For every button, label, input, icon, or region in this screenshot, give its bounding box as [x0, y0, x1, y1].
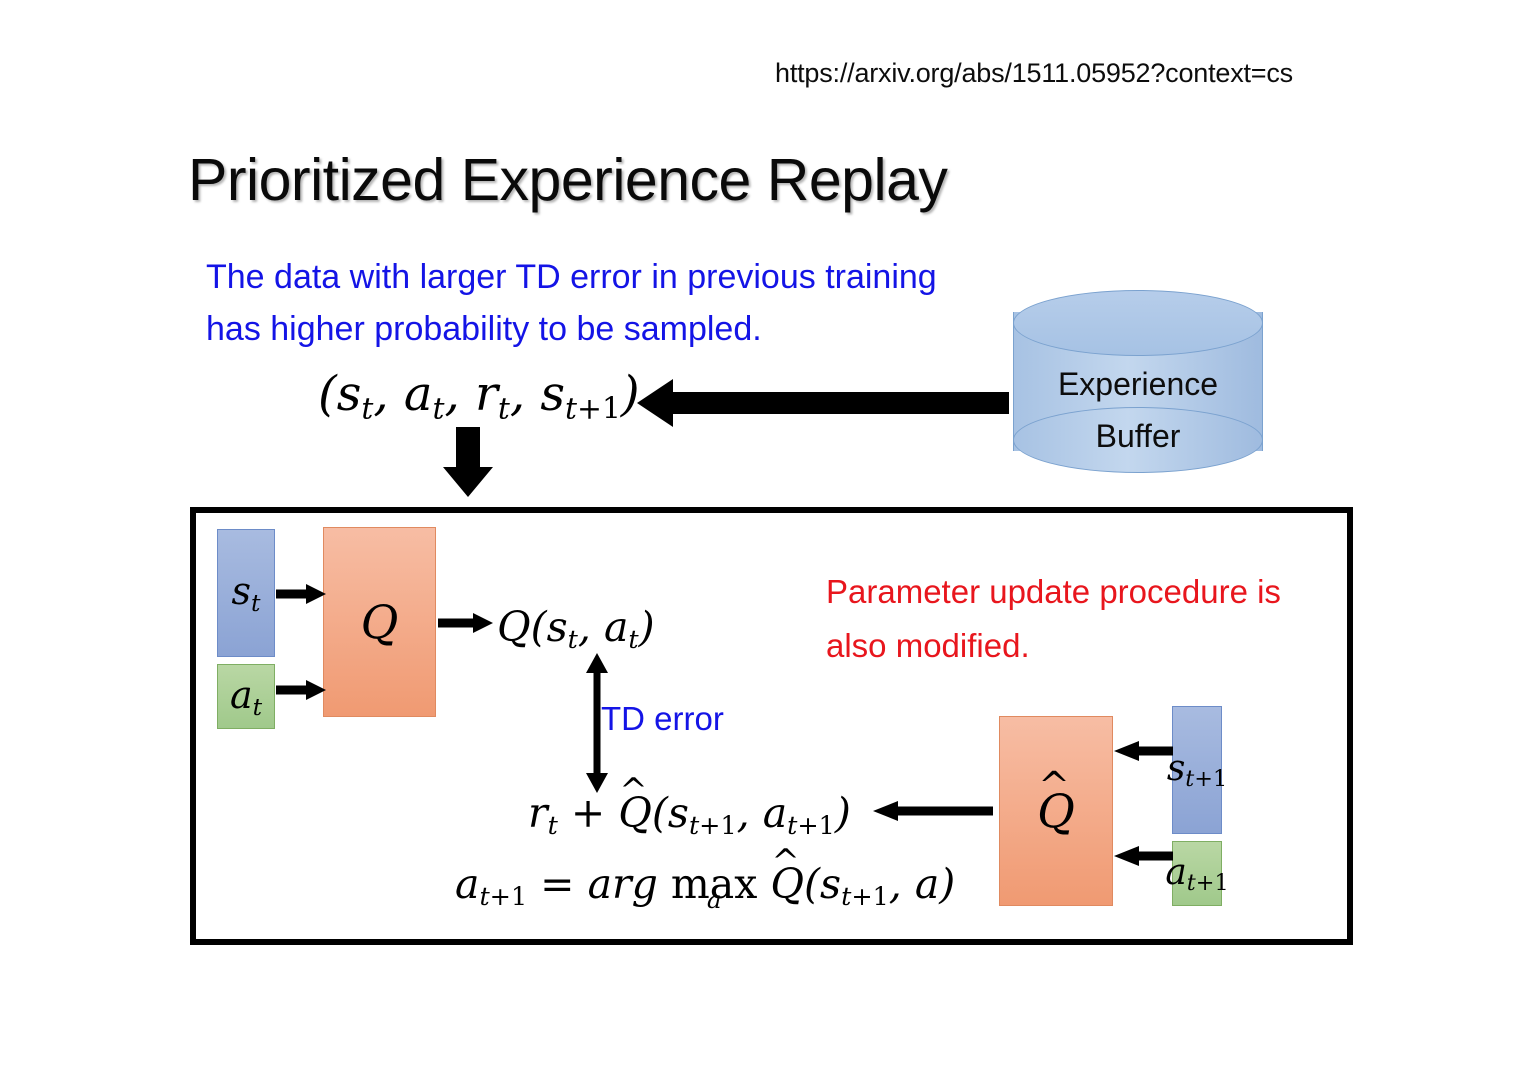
state-t1-box: st+1 — [1172, 706, 1222, 834]
buffer-label-line-2: Buffer — [1013, 410, 1263, 462]
red-annotation-text: Parameter update procedure is also modif… — [826, 565, 1326, 673]
target-q-network-label: ^Q — [1037, 784, 1075, 838]
arrow-q-to-q-value — [438, 612, 493, 634]
arrow-target-q-to-td-target — [873, 800, 993, 822]
action-t-label: at — [230, 673, 262, 721]
cylinder-top-ellipse — [1013, 290, 1263, 356]
experience-buffer-label: Experience Buffer — [1013, 358, 1263, 462]
action-t-box: at — [217, 664, 275, 729]
arrow-state-t-to-q — [276, 583, 326, 605]
feed-block-arrow-down — [443, 427, 493, 497]
slide-canvas: https://arxiv.org/abs/1511.05952?context… — [0, 0, 1524, 1080]
transition-tuple-formula: (st, at, rt, st+1) — [318, 366, 640, 426]
state-t1-label: st+1 — [1167, 748, 1227, 792]
q-network-label: Q — [361, 595, 399, 649]
sample-block-arrow-left — [637, 379, 1009, 427]
state-t-box: st — [217, 529, 275, 657]
td-target-formula: rt + ^Q(st+1, at+1) — [528, 789, 851, 840]
blue-annotation-text: The data with larger TD error in previou… — [206, 251, 996, 355]
experience-buffer-cylinder: Experience Buffer — [1013, 290, 1263, 473]
q-value-formula: Q(st, at) — [497, 603, 655, 654]
action-t1-label: at+1 — [1165, 851, 1228, 895]
action-t1-box: at+1 — [1172, 841, 1222, 906]
argmax-formula: at+1 = arg maxa ^Q(st+1, a) — [455, 860, 955, 911]
state-t-label: st — [232, 569, 261, 617]
source-url[interactable]: https://arxiv.org/abs/1511.05952?context… — [775, 58, 1293, 89]
q-network-box: Q — [323, 527, 436, 717]
buffer-label-line-1: Experience — [1013, 358, 1263, 410]
arrow-action-t-to-q — [276, 679, 326, 701]
td-error-label: TD error — [601, 700, 724, 738]
arrow-state-t1-to-target-q — [1114, 740, 1173, 762]
page-title: Prioritized Experience Replay — [188, 146, 947, 214]
target-q-network-box: ^Q — [999, 716, 1113, 906]
arrow-action-t1-to-target-q — [1114, 845, 1173, 867]
